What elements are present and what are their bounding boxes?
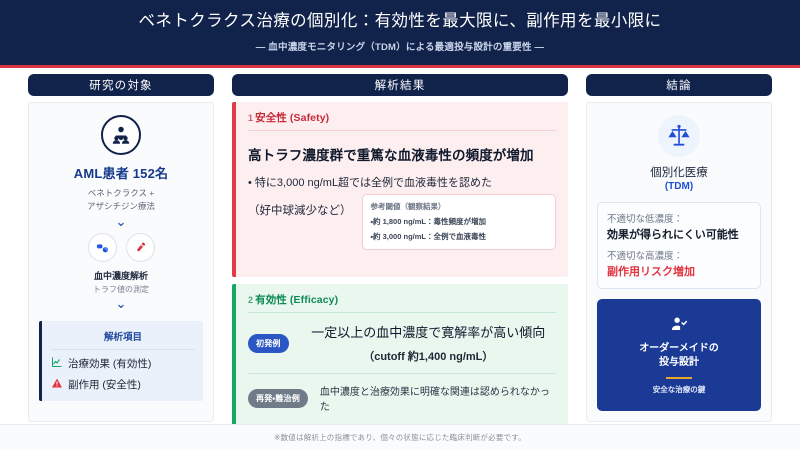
panel-safety-heading: 1安全性 (Safety): [248, 110, 556, 131]
cta-custom-dosing[interactable]: オーダーメイドの 投与設計 安全な治療の鍵: [597, 299, 761, 411]
panel-efficacy-title: 有効性 (Efficacy): [255, 294, 338, 306]
panel-efficacy: 2有効性 (Efficacy) 初発例 一定以上の血中濃度で寛解率が高い傾向 （…: [232, 284, 568, 432]
warning-triangle-icon: [51, 377, 63, 392]
analysis-panels: 1安全性 (Safety) 高トラフ濃度群で重篤な血液毒性の頻度が増加 • 特に…: [232, 102, 568, 432]
pill-header-conclusion: 結論: [586, 74, 772, 96]
panel-safety-number: 1: [248, 113, 253, 123]
person-check-icon: [670, 315, 688, 338]
efficacy-main-text: 一定以上の血中濃度で寛解率が高い傾向: [301, 322, 556, 341]
analysis-items-box: 解析項目 治療効果 (有効性): [39, 321, 203, 401]
balance-scale-icon: [658, 115, 700, 157]
reference-threshold-line: ・約 3,000 ng/mL：全例で血液毒性: [371, 231, 548, 242]
column-conclusion: 結論 個別化医療 (TDM) 不適切な低濃度： 効果: [586, 74, 772, 422]
column-analysis-results: 解析結果 1安全性 (Safety) 高トラフ濃度群で重篤な血液毒性の頻度が増加…: [232, 74, 568, 422]
cta-subtitle: 安全な治療の鍵: [653, 384, 706, 395]
risk-summary-box: 不適切な低濃度： 効果が得られにくい可能性 不適切な高濃度： 副作用リスク増加: [597, 202, 761, 289]
pill-header-study-subjects: 研究の対象: [28, 74, 214, 96]
reference-threshold-box: 参考閾値（観察結果） ・約 1,800 ng/mL：毒性頻度が増加 ・約 3,0…: [362, 194, 557, 250]
page-title: ベネトクラクス治療の個別化：有効性を最大限に、副作用を最小限に: [139, 12, 662, 32]
regimen-line-2: アザシチジン療法: [87, 200, 155, 213]
status-badge-relapsed-refractory: 再発・難治例: [248, 389, 308, 408]
list-item: 治療効果 (有効性): [51, 356, 195, 371]
regimen-line-1: ベネトクラクス +: [87, 187, 155, 200]
divider: [666, 377, 692, 379]
conclusion-card: 個別化医療 (TDM) 不適切な低濃度： 効果が得られにくい可能性 不適切な高濃…: [586, 102, 772, 422]
efficacy-primary-text-group: 一定以上の血中濃度で寛解率が高い傾向 （cutoff 約1,400 ng/mL）: [301, 322, 556, 364]
panel-efficacy-heading: 2有効性 (Efficacy): [248, 292, 556, 313]
analysis-method-label: 血中濃度解析: [94, 269, 148, 282]
risk-label-high: 不適切な高濃度：: [607, 248, 751, 262]
efficacy-row-relapsed: 再発・難治例 血中濃度と治療効果に明確な関連は認められなかった: [248, 374, 556, 422]
panel-safety-title: 安全性 (Safety): [255, 112, 329, 124]
column-study-subjects: 研究の対象 AML患者 152名 ベネトクラクス +: [28, 74, 214, 422]
risk-value-high: 副作用リスク増加: [607, 263, 751, 279]
reference-threshold-title: 参考閾値（観察結果）: [371, 201, 548, 212]
page-footer: ※数値は解析上の指標であり、個々の状態に応じた臨床判断が必要です。: [0, 424, 800, 450]
method-icons: [88, 233, 155, 262]
columns-container: 研究の対象 AML患者 152名 ベネトクラクス +: [0, 74, 800, 422]
page-header: ベネトクラクス治療の個別化：有効性を最大限に、副作用を最小限に — 血中濃度モニ…: [0, 0, 800, 68]
status-badge-newly-diagnosed: 初発例: [248, 334, 289, 353]
line-chart-icon: [51, 356, 63, 371]
reference-threshold-line: ・約 1,800 ng/mL：毒性頻度が増加: [371, 216, 548, 227]
cta-title-line-1: オーダーメイドの: [639, 342, 719, 357]
panel-efficacy-number: 2: [248, 295, 253, 305]
conclusion-title: 個別化医療: [650, 164, 708, 180]
safety-detail-row: （好中球減少など） 参考閾値（観察結果） ・約 1,800 ng/mL：毒性頻度…: [248, 194, 556, 250]
chevron-down-icon-1: ⌄: [116, 215, 127, 228]
analysis-items-title: 解析項目: [51, 329, 195, 350]
efficacy-cutoff-text: （cutoff 約1,400 ng/mL）: [301, 348, 556, 364]
cta-title: オーダーメイドの 投与設計: [639, 342, 719, 371]
blood-collection-tube-icon: [126, 233, 155, 262]
cta-title-line-2: 投与設計: [639, 356, 719, 371]
capsule-pills-icon: [88, 233, 117, 262]
list-item-label: 副作用 (安全性): [68, 377, 141, 392]
chevron-down-icon-2: ⌄: [116, 297, 127, 310]
efficacy-relapsed-note: 血中濃度と治療効果に明確な関連は認められなかった: [320, 383, 556, 413]
safety-headline: 高トラフ濃度群で重篤な血液毒性の頻度が増加: [248, 144, 556, 164]
analysis-method-sub: トラフ値の測定: [93, 284, 149, 295]
conclusion-tdm-label: (TDM): [665, 181, 693, 192]
efficacy-row-newly-diagnosed: 初発例 一定以上の血中濃度で寛解率が高い傾向 （cutoff 約1,400 ng…: [248, 313, 556, 374]
risk-label-low: 不適切な低濃度：: [607, 211, 751, 225]
panel-safety: 1安全性 (Safety) 高トラフ濃度群で重篤な血液毒性の頻度が増加 • 特に…: [232, 102, 568, 277]
pill-header-analysis-results: 解析結果: [232, 74, 568, 96]
page-subtitle: — 血中濃度モニタリング（TDM）による最適投与設計の重要性 —: [256, 39, 544, 53]
infographic-page: ベネトクラクス治療の個別化：有効性を最大限に、副作用を最小限に — 血中濃度モニ…: [0, 0, 800, 450]
footer-disclaimer: ※数値は解析上の指標であり、個々の状態に応じた臨床判断が必要です。: [274, 432, 526, 443]
study-subjects-card: AML患者 152名 ベネトクラクス + アザシチジン療法 ⌄: [28, 102, 214, 422]
safety-paren-note: （好中球減少など）: [248, 194, 352, 218]
patient-count-label: AML患者 152名: [74, 163, 168, 182]
safety-bullet: • 特に3,000 ng/mL超では全例で血液毒性を認めた: [248, 174, 556, 190]
regimen-label: ベネトクラクス + アザシチジン療法: [87, 187, 155, 213]
risk-value-low: 効果が得られにくい可能性: [607, 226, 751, 242]
list-item-label: 治療効果 (有効性): [68, 356, 151, 371]
list-item: 副作用 (安全性): [51, 377, 195, 392]
patients-group-icon: [101, 115, 141, 155]
